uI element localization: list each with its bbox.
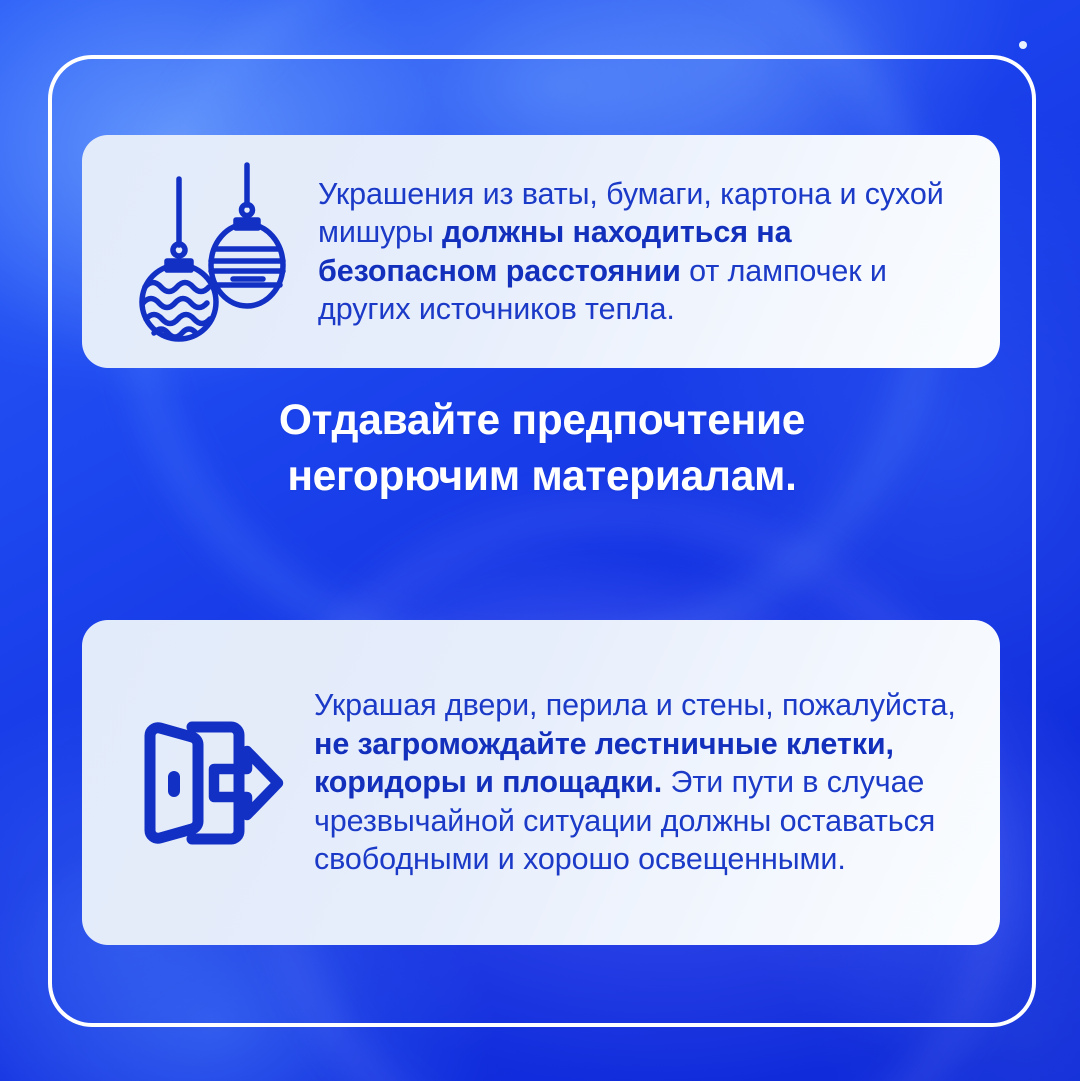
headline-line-1: Отдавайте предпочтение [48,393,1036,449]
headline-line-2: негорючим материалам. [48,449,1036,505]
tip-card-ornaments-text: Украшения из ваты, бумаги, картона и сух… [318,175,970,329]
decorative-dot [1019,41,1027,49]
tip-card-exits: Украшая двери, перила и стены, пожалуйст… [82,620,1000,945]
tip-card-ornaments: Украшения из ваты, бумаги, картона и сух… [82,135,1000,368]
poster: Украшения из ваты, бумаги, картона и сух… [0,0,1080,1081]
christmas-ornaments-icon [134,157,304,347]
exit-door-icon [130,703,300,863]
tip-card-exits-text: Украшая двери, перила и стены, пожалуйст… [314,686,970,879]
page-headline: Отдавайте предпочтение негорючим материа… [48,393,1036,505]
